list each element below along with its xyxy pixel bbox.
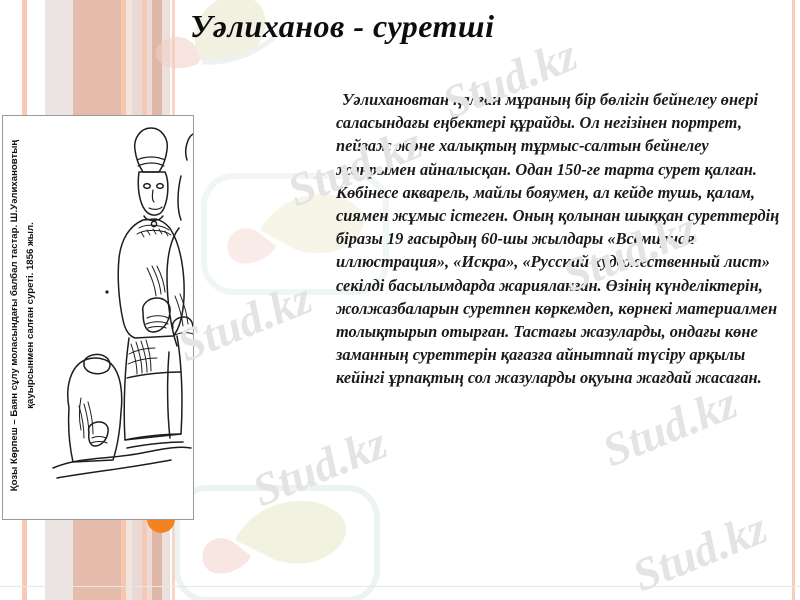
illustration-card: Қозы Көрпеш – Баян сұлу моласындағы балб… (2, 115, 194, 520)
brand-leaf-watermark-bottom (165, 470, 395, 600)
body-paragraph: Уәлихановтан қалған мұраның бір бөлігін … (336, 88, 784, 390)
bottom-rule (0, 586, 800, 587)
illustration-caption: Қозы Көрпеш – Баян сұлу моласындағы балб… (3, 116, 57, 519)
watermark-text-5: Stud.kz (595, 376, 744, 477)
watermark-text-4: Stud.kz (245, 416, 394, 517)
right-accent-rule (792, 0, 795, 600)
stone-statues-drawing (51, 116, 193, 517)
page-title: Уәлиханов - суретші (190, 8, 750, 45)
slide-canvas: Уәлиханов - суретші Уәлихановтан қалған … (0, 0, 800, 600)
